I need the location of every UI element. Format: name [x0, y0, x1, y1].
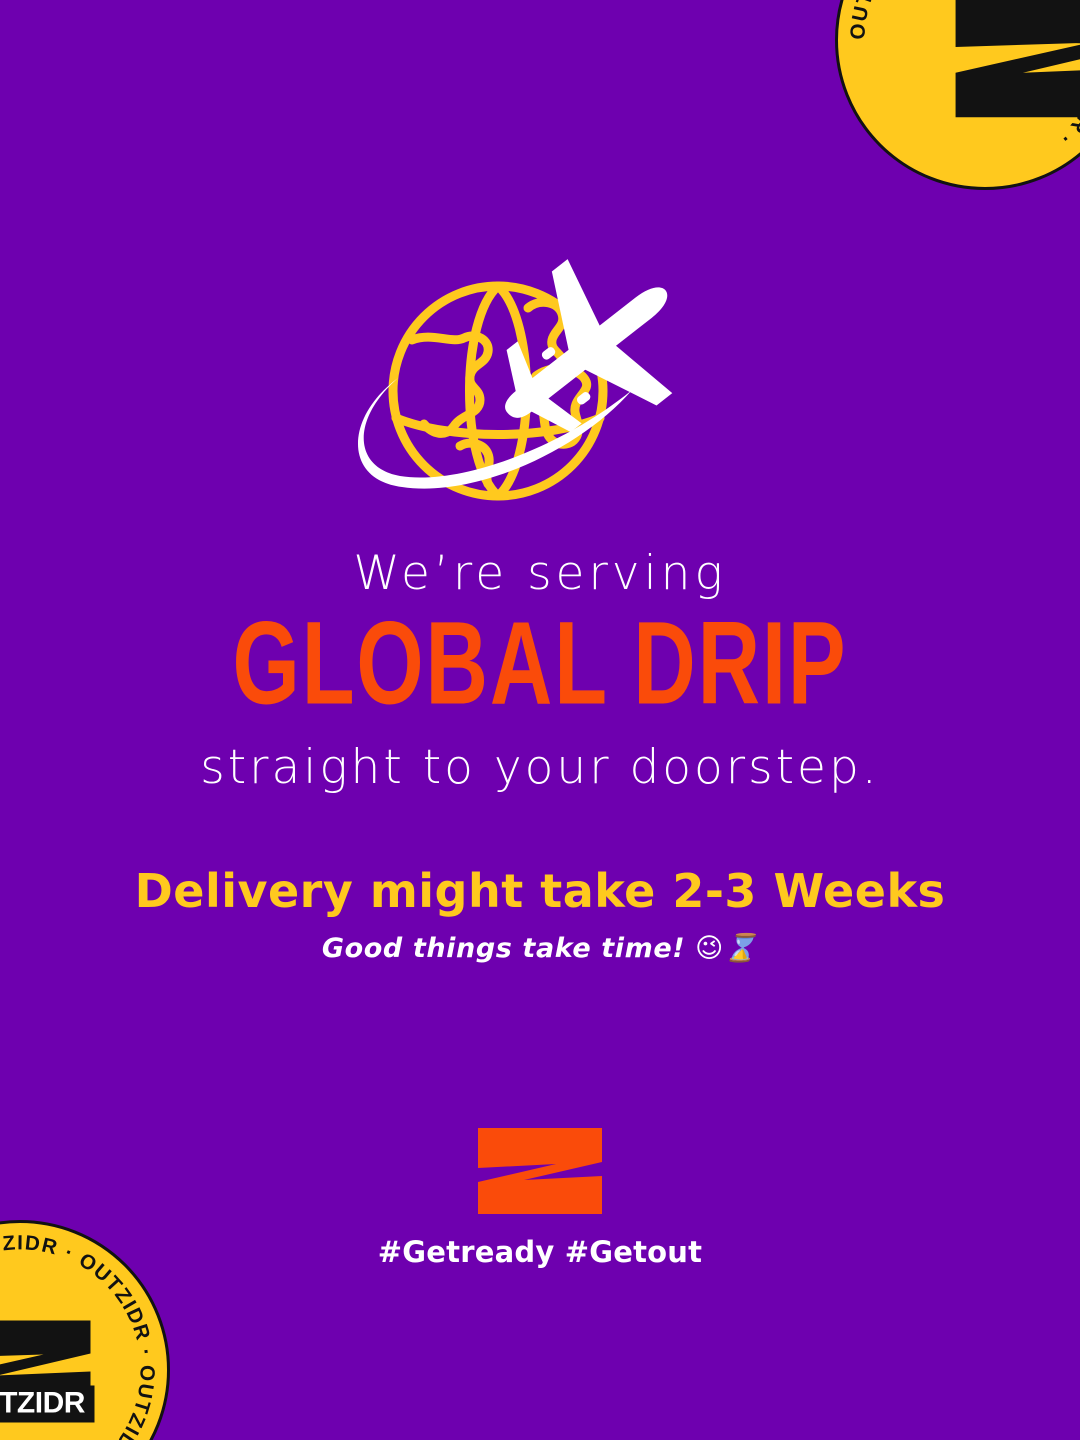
- badge-bottom-left: OUTZIDR · OUTZIDR · OUTZIDR · OUTZIDR · …: [0, 1220, 170, 1440]
- good-things-note: Good things take time! 😉⌛: [0, 934, 1080, 964]
- delivery-notice: Delivery might take 2-3 Weeks: [0, 866, 1080, 917]
- globe-airplane-graphic: [340, 268, 740, 520]
- z-logo-icon: [948, 0, 1080, 153]
- badge-top-right: OUTZIDR · OUTZIDR · OUTZIDR · OUTZIDR ·: [835, 0, 1080, 190]
- badge-core-bottom-left: OUTZIDR: [0, 1318, 103, 1423]
- doorstep-line: straight to your doorstep.: [0, 742, 1080, 794]
- copy-block: We’re serving GLOBAL DRIP straight to yo…: [0, 548, 1080, 964]
- promo-poster: OUTZIDR · OUTZIDR · OUTZIDR · OUTZIDR ·: [0, 0, 1080, 1440]
- outzidr-z-logo: [476, 1126, 604, 1216]
- headline: GLOBAL DRIP: [32, 592, 1047, 736]
- badge-wordmark: OUTZIDR: [0, 1386, 95, 1423]
- badge-core-top-right: [945, 0, 1080, 153]
